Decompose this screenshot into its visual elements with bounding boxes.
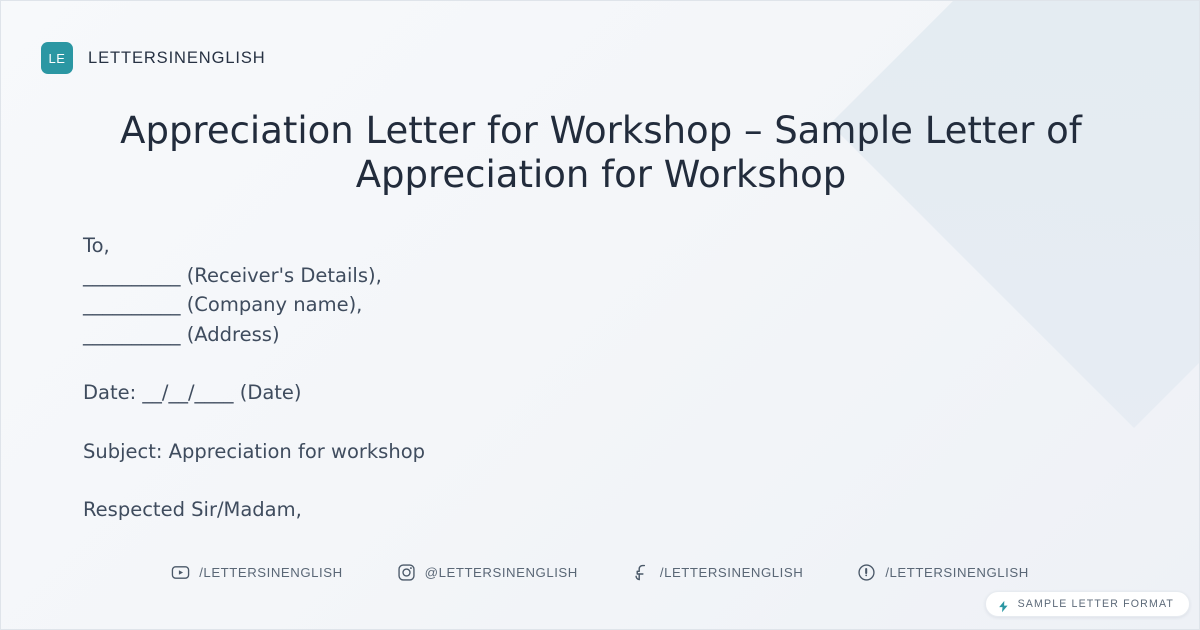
status-badge: SAMPLE LETTER FORMAT xyxy=(985,591,1190,617)
social-links-bar: /LETTERSINENGLISH@LETTERSINENGLISH/LETTE… xyxy=(1,563,1199,582)
social-link-label: @LETTERSINENGLISH xyxy=(425,565,578,580)
letter-paragraph: Subject: Appreciation for workshop xyxy=(83,437,723,467)
page-title: Appreciation Letter for Workshop – Sampl… xyxy=(101,109,1101,196)
instagram-icon xyxy=(397,563,416,582)
status-badge-label: SAMPLE LETTER FORMAT xyxy=(1018,598,1174,610)
letter-line: __________ (Address) xyxy=(83,320,723,350)
letter-line: __________ (Company name), xyxy=(83,290,723,320)
facebook-icon xyxy=(632,563,651,582)
pinterest-icon xyxy=(857,563,876,582)
youtube-icon xyxy=(171,563,190,582)
social-link-pinterest[interactable]: /LETTERSINENGLISH xyxy=(857,563,1028,582)
letter-line: __________ (Receiver's Details), xyxy=(83,261,723,291)
social-link-label: /LETTERSINENGLISH xyxy=(885,565,1028,580)
decorative-diamond-shape xyxy=(830,0,1200,428)
brand-logo[interactable]: LE LETTERSINENGLISH xyxy=(41,42,266,74)
social-link-label: /LETTERSINENGLISH xyxy=(660,565,803,580)
social-link-facebook[interactable]: /LETTERSINENGLISH xyxy=(632,563,803,582)
brand-monogram-text: LE xyxy=(49,51,66,66)
letter-paragraph: Respected Sir/Madam, xyxy=(83,495,723,525)
letter-body: To,__________ (Receiver's Details),_____… xyxy=(83,231,723,525)
lightning-bolt-icon xyxy=(997,598,1010,611)
social-link-instagram[interactable]: @LETTERSINENGLISH xyxy=(397,563,578,582)
letter-paragraph: To,__________ (Receiver's Details),_____… xyxy=(83,231,723,349)
social-link-youtube[interactable]: /LETTERSINENGLISH xyxy=(171,563,342,582)
brand-name-label: LETTERSINENGLISH xyxy=(88,49,266,68)
brand-monogram-icon: LE xyxy=(41,42,73,74)
letter-preview-card: LE LETTERSINENGLISH Appreciation Letter … xyxy=(0,0,1200,630)
letter-line: Subject: Appreciation for workshop xyxy=(83,437,723,467)
letter-line: To, xyxy=(83,231,723,261)
social-link-label: /LETTERSINENGLISH xyxy=(199,565,342,580)
letter-line: Date: __/__/____ (Date) xyxy=(83,378,723,408)
letter-paragraph: Date: __/__/____ (Date) xyxy=(83,378,723,408)
letter-line: Respected Sir/Madam, xyxy=(83,495,723,525)
